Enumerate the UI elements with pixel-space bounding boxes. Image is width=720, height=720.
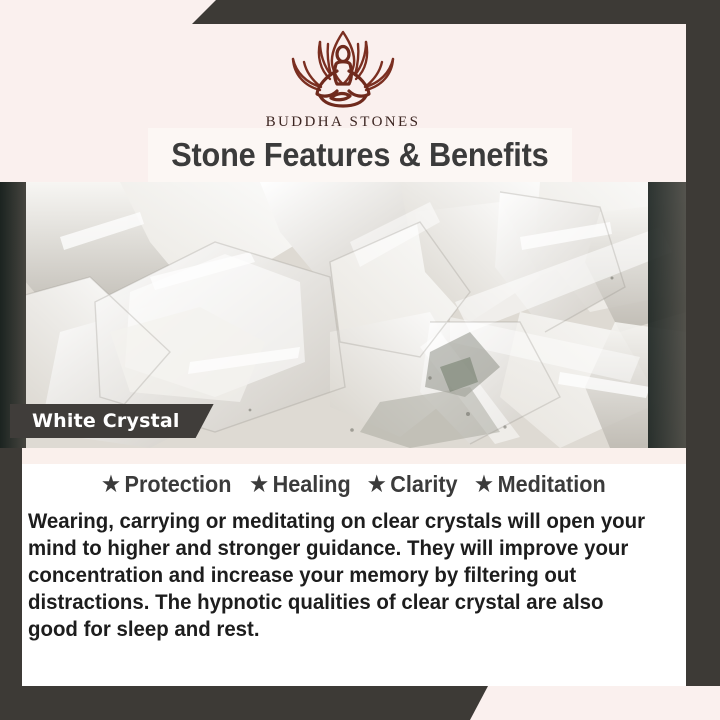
benefit-label: Healing — [272, 471, 350, 498]
stone-features-card: BUDDHA STONES Stone Features & Benefits — [0, 0, 720, 720]
benefits-row: ★ Protection ★ Healing ★ Clarity ★ Medit… — [22, 464, 686, 504]
top-diagonal-accent — [192, 0, 720, 24]
bottom-diagonal-accent — [470, 686, 720, 720]
body-panel: ★ Protection ★ Healing ★ Clarity ★ Medit… — [22, 464, 686, 686]
title-banner: Stone Features & Benefits — [148, 128, 572, 182]
benefit-item: ★ Protection — [102, 471, 231, 498]
star-icon: ★ — [102, 474, 120, 495]
brand-logo: BUDDHA STONES — [0, 26, 686, 131]
star-icon: ★ — [475, 474, 493, 495]
page-title: Stone Features & Benefits — [171, 136, 548, 174]
description-paragraph: Wearing, carrying or meditating on clear… — [28, 508, 647, 643]
lotus-meditation-icon — [268, 26, 418, 112]
benefit-label: Protection — [125, 471, 232, 498]
header-right-frame-rail — [686, 24, 720, 182]
benefit-label: Meditation — [498, 471, 606, 498]
benefit-item: ★ Healing — [250, 471, 350, 498]
photo-caption-banner: White Crystal — [10, 404, 214, 438]
accent-band — [22, 448, 686, 464]
photo-caption-text: White Crystal — [32, 410, 180, 432]
benefit-item: ★ Meditation — [475, 471, 605, 498]
benefit-label: Clarity — [390, 471, 457, 498]
star-icon: ★ — [250, 474, 268, 495]
benefit-item: ★ Clarity — [367, 471, 457, 498]
star-icon: ★ — [367, 474, 385, 495]
bottom-frame-rail — [0, 686, 720, 720]
